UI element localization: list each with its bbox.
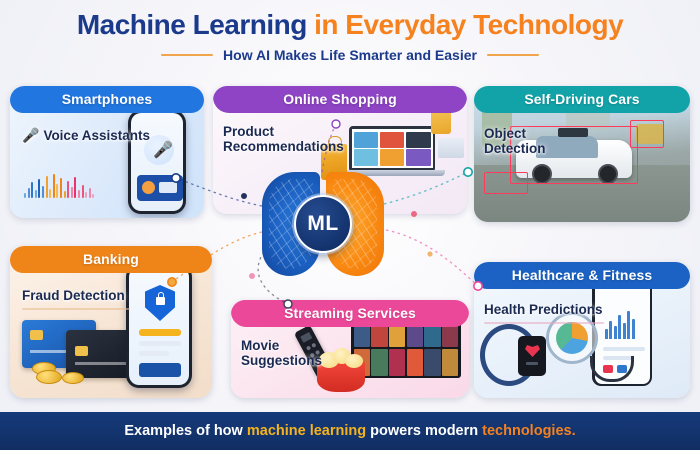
footer-banner: Examples of how machine learning powers …	[0, 412, 700, 450]
footer-highlight-primary: machine learning	[247, 423, 366, 439]
card-healthcare-label-underline	[484, 322, 604, 324]
card-healthcare[interactable]: Healthcare & Fitness Health Predictions	[474, 262, 690, 398]
ml-core-label: ML	[307, 212, 338, 236]
pie-chart	[556, 322, 588, 354]
card-cars-label: Object Detection	[484, 126, 546, 156]
card-smartphones-header: Smartphones	[10, 86, 204, 113]
footer-text-before: Examples of how	[124, 423, 246, 439]
card-healthcare-label: Health Predictions	[484, 302, 603, 317]
title-primary: Machine Learning	[77, 9, 314, 40]
card-shopping-label: Product Recommendations	[223, 124, 344, 154]
page-title: Machine Learning in Everyday Technology	[0, 8, 700, 42]
page-subtitle: How AI Makes Life Smarter and Easier	[223, 47, 477, 63]
card-streaming-body: Streaming Services Movie Suggestions	[231, 300, 469, 398]
card-cars[interactable]: Self-Driving Cars Object Detection	[474, 86, 690, 222]
card-cars-header: Self-Driving Cars	[474, 86, 690, 113]
card-healthcare-body: Healthcare & Fitness Health Predictions	[474, 262, 690, 398]
card-banking-header: Banking	[10, 246, 212, 273]
card-banking-body: Banking Fraud Detection	[10, 246, 212, 398]
coin-stack-2	[36, 370, 62, 384]
health-bar-chart	[605, 309, 636, 339]
coin-stack-3	[62, 372, 84, 384]
card-streaming-label: Movie Suggestions	[241, 338, 322, 368]
microphone-icon: 🎤	[22, 127, 39, 143]
title-accent: in Everyday Technology	[314, 9, 623, 40]
machine-learning-brain[interactable]: ML	[262, 172, 384, 276]
infographic-poster: Machine Learning in Everyday Technology …	[0, 0, 700, 450]
header: Machine Learning in Everyday Technology …	[0, 0, 700, 78]
subtitle-row: How AI Makes Life Smarter and Easier	[0, 47, 700, 63]
card-banking-label-underline	[22, 308, 130, 310]
card-smartphones[interactable]: 🎤	[10, 86, 204, 218]
television-mockup	[351, 318, 461, 378]
card-cars-body: Self-Driving Cars Object Detection	[474, 86, 690, 222]
card-shopping-header: Online Shopping	[213, 86, 467, 113]
card-healthcare-header: Healthcare & Fitness	[474, 262, 690, 289]
detection-box-sign	[630, 120, 664, 148]
phone-mockup: 🎤	[128, 110, 186, 214]
card-smartphones-body: 🎤	[10, 86, 204, 218]
card-streaming[interactable]: Streaming Services Movie Suggestions	[231, 300, 469, 398]
subtitle-rule-right	[487, 54, 539, 56]
ml-core-badge: ML	[294, 195, 352, 253]
card-streaming-header: Streaming Services	[231, 300, 469, 327]
subtitle-rule-left	[161, 54, 213, 56]
footer-text-middle: powers modern	[366, 423, 482, 439]
banking-phone	[126, 264, 192, 388]
detection-box-lane	[484, 172, 528, 194]
footer-text: Examples of how machine learning powers …	[124, 423, 575, 439]
card-banking-label: Fraud Detection	[22, 288, 125, 303]
audio-waveform	[24, 174, 94, 198]
card-smartphones-label: 🎤Voice Assistants	[22, 128, 150, 143]
card-banking[interactable]: Banking Fraud Detection	[10, 246, 212, 398]
footer-highlight-secondary: technologies.	[482, 423, 575, 439]
